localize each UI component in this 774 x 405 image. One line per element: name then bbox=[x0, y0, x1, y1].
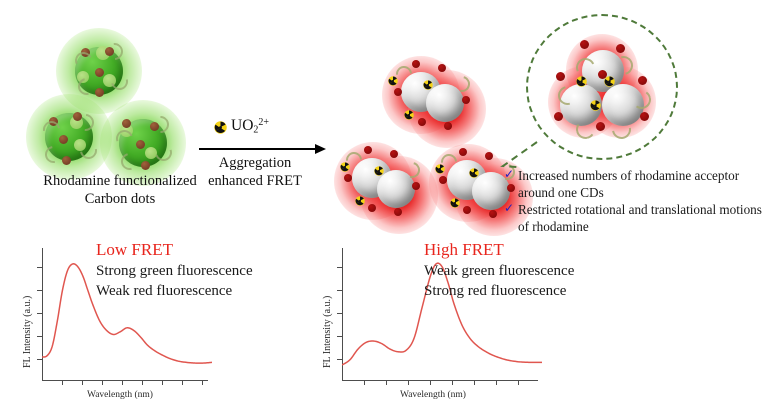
rhodamine-unit bbox=[62, 156, 71, 165]
rhodamine-unit bbox=[412, 182, 420, 190]
x-axis-label: Wavelength (nm) bbox=[87, 390, 153, 400]
annotation-line2: Strong red fluorescence bbox=[424, 282, 574, 302]
rhodamine-unit bbox=[616, 44, 625, 53]
rhodamine-unit bbox=[141, 161, 150, 170]
benefits-bullet-list: ✓ Increased numbers of rhodamine accepto… bbox=[504, 167, 774, 236]
arrow-head-icon bbox=[315, 144, 326, 154]
radioactive-icon bbox=[388, 76, 398, 86]
rhodamine-unit bbox=[596, 122, 605, 131]
rhodamine-unit bbox=[418, 118, 426, 126]
rhodamine-unit bbox=[95, 88, 104, 97]
radioactive-icon bbox=[590, 100, 601, 111]
rhodamine-unit bbox=[439, 176, 447, 184]
check-icon: ✓ bbox=[504, 201, 518, 217]
arrow-shaft bbox=[199, 148, 318, 150]
rhodamine-unit bbox=[459, 148, 467, 156]
radioactive-icon bbox=[576, 76, 587, 87]
radioactive-icon bbox=[214, 121, 227, 134]
rhodamine-unit bbox=[638, 76, 647, 85]
rhodamine-unit bbox=[485, 152, 493, 160]
radioactive-icon bbox=[450, 198, 460, 208]
y-axis-label: FL Intensity (a.u.) bbox=[22, 296, 33, 368]
x-axis-label: Wavelength (nm) bbox=[400, 390, 466, 400]
green-carbon-dot bbox=[26, 94, 112, 180]
list-item-label: Increased numbers of rhodamine acceptor … bbox=[518, 167, 774, 201]
radioactive-icon bbox=[355, 196, 365, 206]
rhodamine-unit bbox=[344, 174, 352, 182]
annotation-line2: Weak red fluorescence bbox=[96, 282, 253, 302]
rhodamine-unit bbox=[412, 60, 420, 68]
radioactive-icon bbox=[404, 110, 414, 120]
left-caption-line2: Carbon dots bbox=[10, 190, 230, 208]
arrow-caption: Aggregation enhanced FRET bbox=[190, 155, 320, 190]
high-fret-title: High FRET bbox=[424, 240, 504, 260]
annotation-line1: Weak green fluorescence bbox=[424, 262, 574, 282]
rhodamine-unit bbox=[394, 88, 402, 96]
rhodamine-unit bbox=[444, 122, 452, 130]
rhodamine-unit bbox=[489, 210, 497, 218]
analyte-symbol: UO bbox=[231, 117, 253, 134]
rhodamine-unit bbox=[122, 119, 131, 128]
rhodamine-unit bbox=[640, 112, 649, 121]
rhodamine-unit bbox=[556, 72, 565, 81]
rhodamine-unit bbox=[580, 40, 589, 49]
rhodamine-unit bbox=[95, 68, 104, 77]
rhodamine-unit bbox=[390, 150, 398, 158]
radioactive-icon bbox=[604, 76, 615, 87]
low-fret-plot: FL Intensity (a.u.) Wavelength (nm) Low … bbox=[0, 240, 320, 405]
analyte-superscript: 2+ bbox=[258, 117, 269, 128]
radioactive-icon bbox=[435, 164, 445, 174]
list-item: ✓ Restricted rotational and translationa… bbox=[504, 201, 774, 235]
rhodamine-unit bbox=[368, 204, 376, 212]
rhodamine-unit bbox=[59, 135, 68, 144]
list-item: ✓ Increased numbers of rhodamine accepto… bbox=[504, 167, 774, 201]
check-icon: ✓ bbox=[504, 167, 518, 183]
rhodamine-unit bbox=[463, 206, 471, 214]
radioactive-icon bbox=[469, 168, 479, 178]
magnified-cluster bbox=[550, 36, 654, 136]
arrow-caption-line2: enhanced FRET bbox=[190, 173, 320, 191]
rhodamine-unit bbox=[136, 140, 145, 149]
rhodamine-unit bbox=[364, 146, 372, 154]
y-axis-label: FL Intensity (a.u.) bbox=[322, 296, 333, 368]
rhodamine-unit bbox=[438, 64, 446, 72]
rhodamine-unit bbox=[462, 96, 470, 104]
radioactive-icon bbox=[374, 166, 384, 176]
annotation-line1: Strong green fluorescence bbox=[96, 262, 253, 282]
radioactive-icon bbox=[423, 80, 433, 90]
low-fret-title: Low FRET bbox=[96, 240, 173, 260]
high-fret-plot: FL Intensity (a.u.) Wavelength (nm) High… bbox=[320, 240, 660, 405]
analyte-label: UO22+ bbox=[231, 117, 269, 136]
red-aggregate-cluster bbox=[332, 136, 442, 232]
arrow-caption-line1: Aggregation bbox=[190, 155, 320, 173]
list-item-label: Restricted rotational and translational … bbox=[518, 201, 774, 235]
rhodamine-unit bbox=[554, 112, 563, 121]
low-fret-annotations: Strong green fluorescence Weak red fluor… bbox=[96, 262, 253, 301]
high-fret-annotations: Weak green fluorescence Strong red fluor… bbox=[424, 262, 574, 301]
radioactive-icon bbox=[340, 162, 350, 172]
rhodamine-unit bbox=[394, 208, 402, 216]
red-aggregate-cluster bbox=[378, 52, 488, 148]
graphical-abstract-figure: Rhodamine functionalized Carbon dots UO2… bbox=[0, 0, 774, 405]
